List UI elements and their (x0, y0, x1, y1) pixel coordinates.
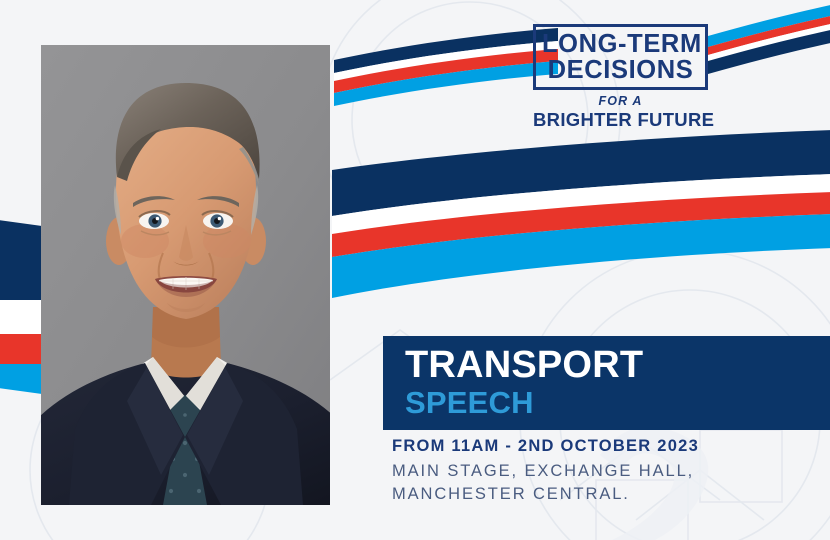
logo-line-decisions: DECISIONS (542, 58, 699, 83)
event-time-date: FROM 11AM - 2ND OCTOBER 2023 (392, 437, 699, 456)
main-stripe-ribbon (330, 130, 830, 320)
top-right-stripe-ribbon (690, 0, 830, 120)
logo-connector-for-a: FOR A (533, 94, 708, 108)
left-edge-stripe-ribbon (0, 212, 46, 398)
logo-box: LONG-TERM DECISIONS (533, 24, 708, 90)
portrait-illustration (41, 45, 330, 505)
event-card: LONG-TERM DECISIONS FOR A BRIGHTER FUTUR… (0, 0, 830, 540)
top-left-stripe-ribbon (330, 10, 560, 130)
title-banner: TRANSPORT SPEECH (383, 336, 830, 430)
event-venue-line-2: MANCHESTER CENTRAL. (392, 485, 699, 504)
title-speech: SPEECH (405, 387, 830, 420)
logo-line-long-term: LONG-TERM (542, 32, 699, 57)
campaign-logo: LONG-TERM DECISIONS FOR A BRIGHTER FUTUR… (533, 24, 708, 131)
speaker-portrait (41, 45, 330, 505)
logo-line-brighter-future: BRIGHTER FUTURE (533, 109, 708, 131)
event-venue-line-1: MAIN STAGE, EXCHANGE HALL, (392, 462, 699, 481)
title-transport: TRANSPORT (405, 346, 830, 385)
event-details: FROM 11AM - 2ND OCTOBER 2023 MAIN STAGE,… (392, 437, 699, 508)
